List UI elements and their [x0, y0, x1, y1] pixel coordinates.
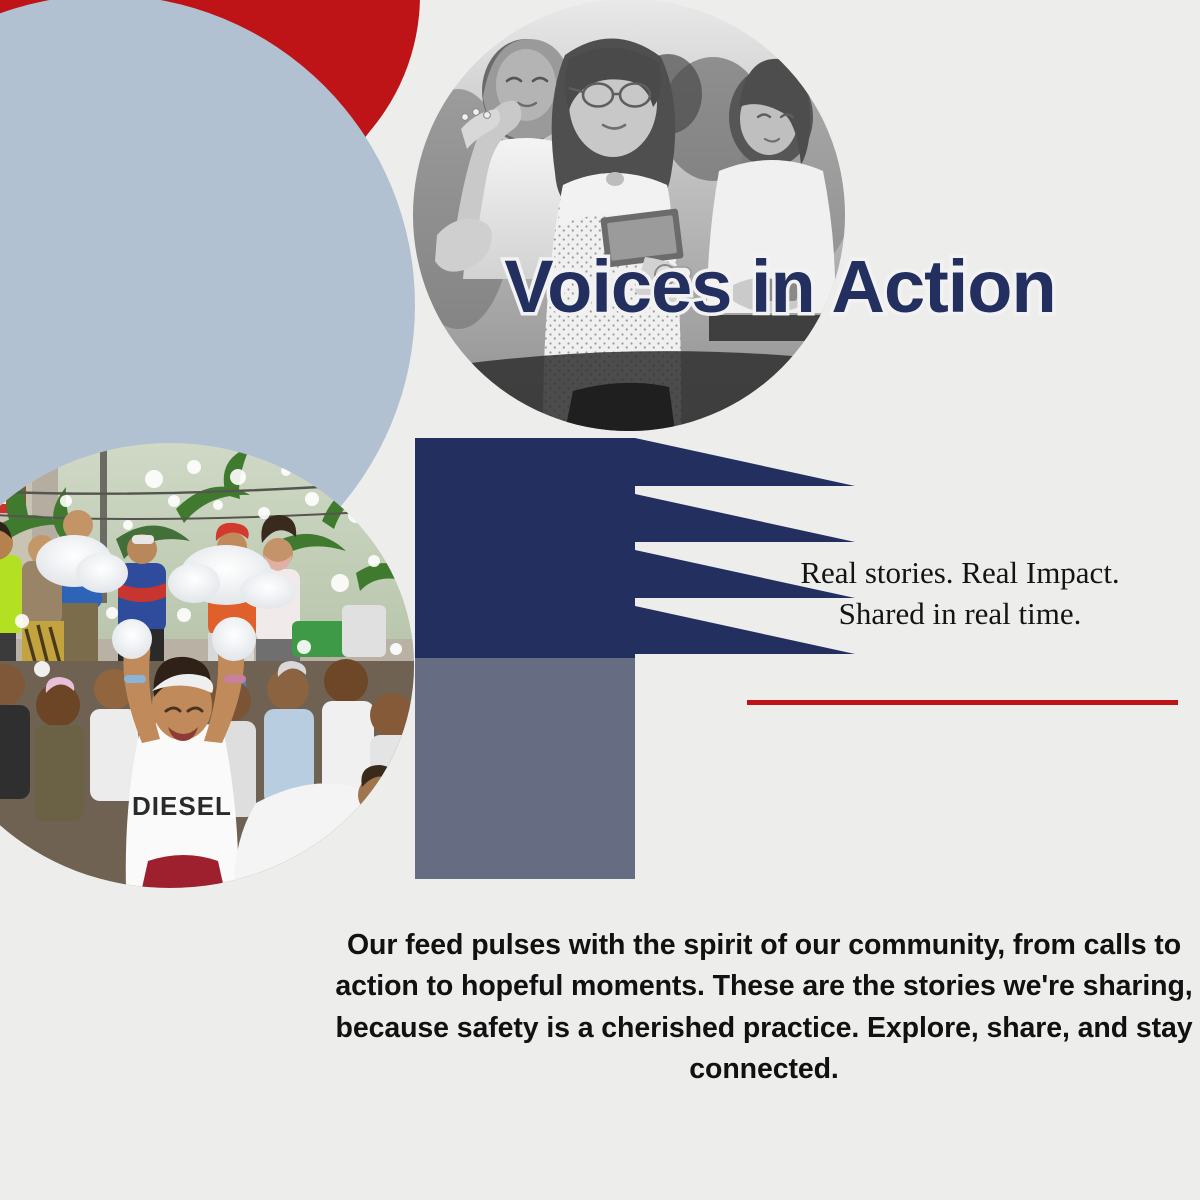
photo-worship-gathering: [413, 0, 845, 431]
navy-solid-block: [415, 438, 635, 663]
spike-1: [635, 438, 855, 486]
photo-festival-illustration: DIESEL: [0, 443, 414, 888]
spike-2: [635, 494, 855, 542]
svg-text:DIESEL: DIESEL: [132, 791, 232, 821]
tagline: Real stories. Real Impact. Shared in rea…: [735, 552, 1185, 634]
tagline-line-2: Shared in real time.: [735, 593, 1185, 634]
slate-accent-block: [415, 658, 635, 879]
photo-community-foam-festival: DIESEL: [0, 443, 414, 888]
poster-canvas: DIESEL: [0, 0, 1200, 1200]
tagline-line-1: Real stories. Real Impact.: [735, 552, 1185, 593]
red-divider-rule: [747, 700, 1178, 705]
photo-worship-illustration: [413, 0, 845, 431]
page-title: Voices in Action: [430, 248, 1130, 326]
body-paragraph: Our feed pulses with the spirit of our c…: [330, 925, 1198, 1091]
